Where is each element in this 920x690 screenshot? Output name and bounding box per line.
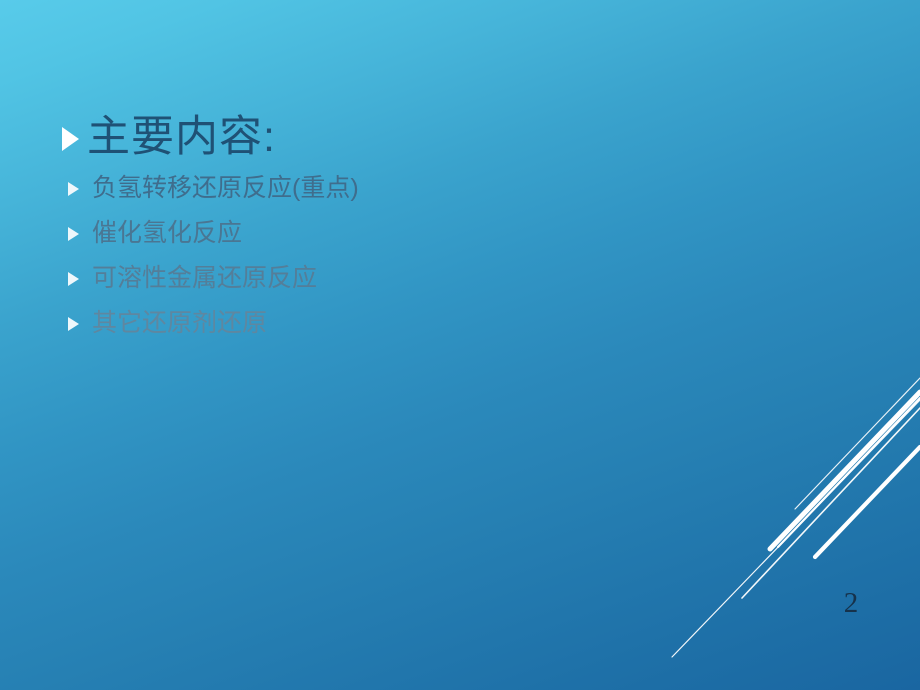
page-title: 主要内容: — [87, 108, 276, 166]
bullet-list: 负氢转移还原反应(重点) 催化氢化反应 可溶性金属还原反应 其它还原剂还原 — [62, 172, 359, 352]
page-number: 2 — [836, 583, 866, 623]
list-item[interactable]: 催化氢化反应 — [62, 217, 359, 262]
streak-line-5 — [815, 447, 920, 557]
triangle-right-icon — [68, 227, 79, 241]
streak-line-2 — [770, 392, 920, 549]
list-item-label: 负氢转移还原反应(重点) — [92, 172, 359, 204]
slide-title-row: 主要内容: — [62, 108, 276, 166]
streak-line-1 — [742, 408, 920, 598]
slide-canvas: 主要内容: 负氢转移还原反应(重点) 催化氢化反应 可溶性金属还原反应 其它还原… — [0, 0, 920, 690]
streak-line-4 — [795, 378, 920, 509]
list-item[interactable]: 其它还原剂还原 — [62, 307, 359, 352]
list-item[interactable]: 可溶性金属还原反应 — [62, 262, 359, 307]
triangle-right-icon — [62, 127, 79, 151]
list-item-label: 催化氢化反应 — [92, 217, 242, 249]
list-item[interactable]: 负氢转移还原反应(重点) — [62, 172, 359, 217]
triangle-right-icon — [68, 182, 79, 196]
streak-line-0 — [672, 400, 920, 657]
triangle-right-icon — [68, 272, 79, 286]
list-item-label: 可溶性金属还原反应 — [92, 262, 317, 294]
list-item-label: 其它还原剂还原 — [92, 307, 267, 339]
triangle-right-icon — [68, 317, 79, 331]
streak-line-3 — [778, 398, 920, 547]
